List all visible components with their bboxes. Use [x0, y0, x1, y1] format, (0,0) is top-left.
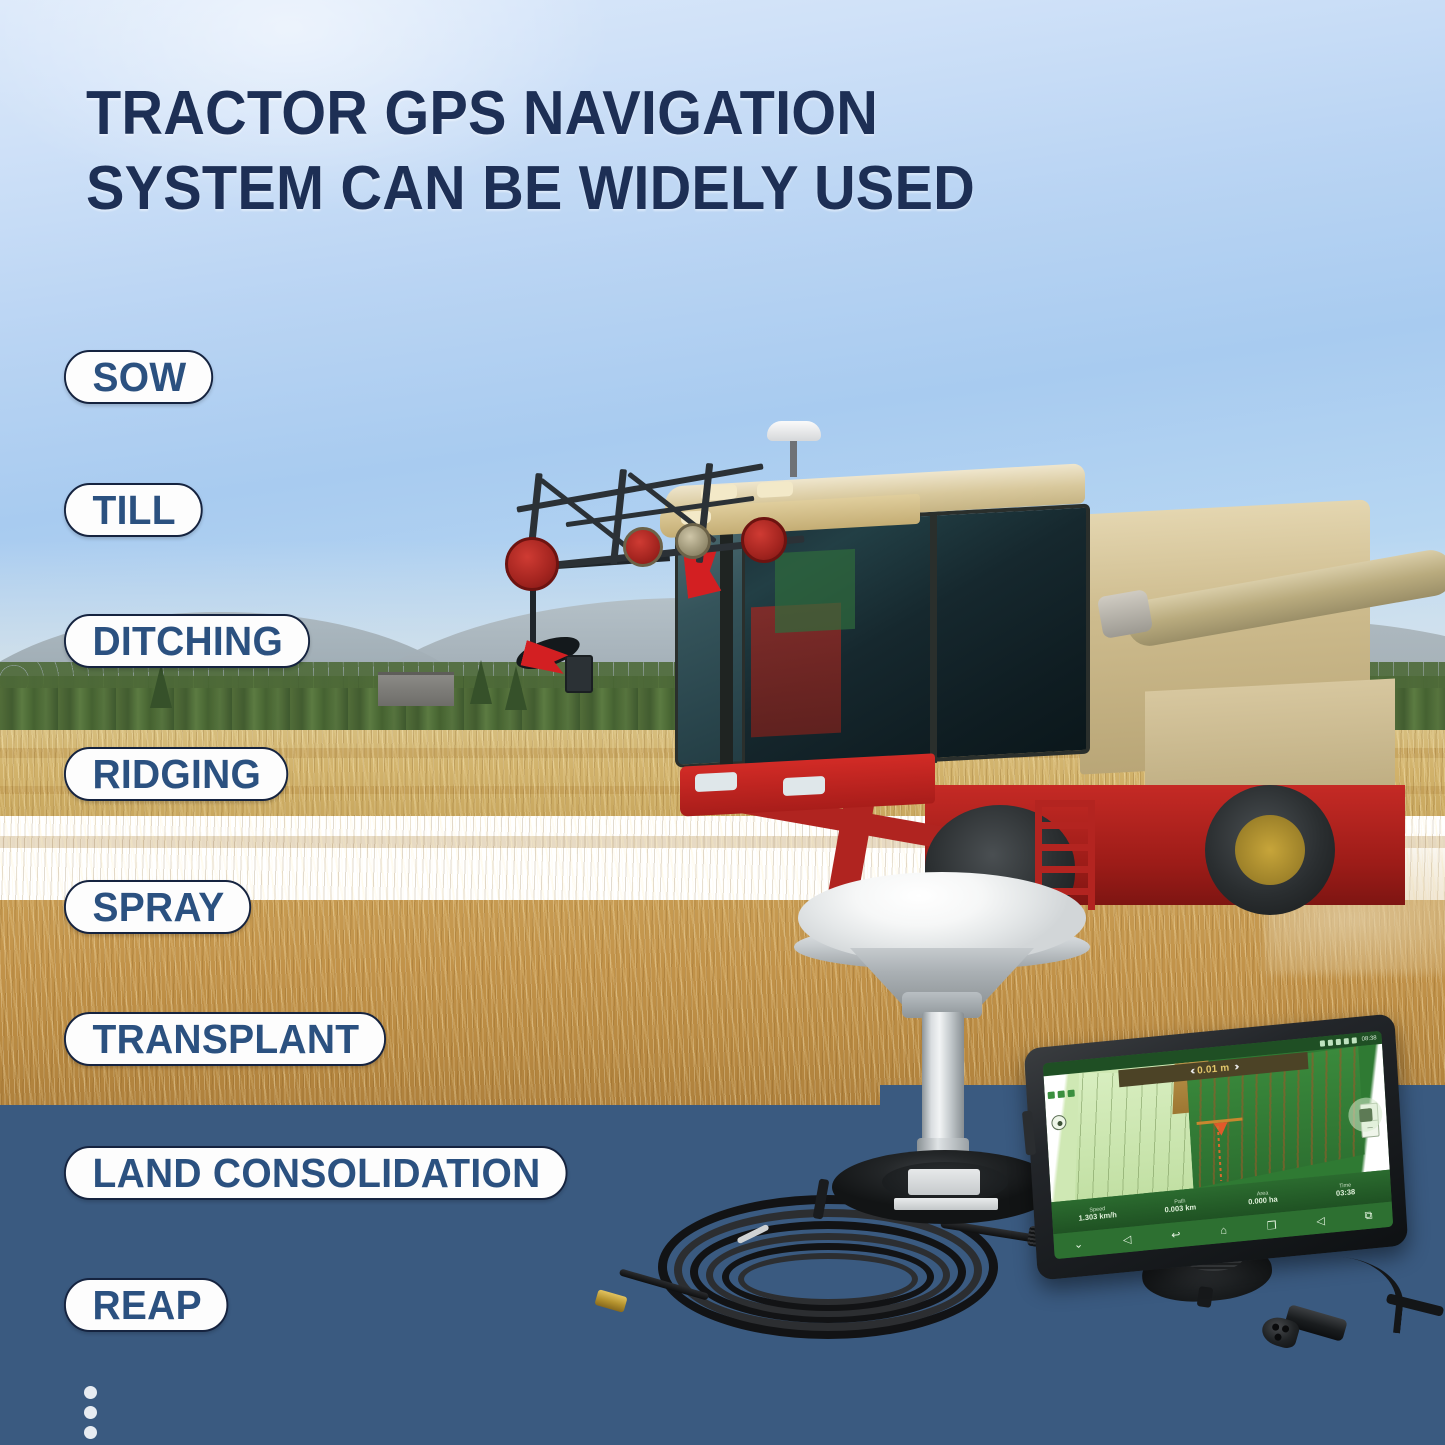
stat-time: Time 03:38	[1304, 1179, 1388, 1202]
layers-icon[interactable]	[1058, 1090, 1065, 1098]
recenter-location-icon[interactable]	[1051, 1114, 1067, 1130]
base-logo-plate	[908, 1169, 980, 1195]
conifer-tree	[470, 660, 492, 704]
base-model-plate	[894, 1198, 998, 1210]
ellipsis-dot	[84, 1386, 97, 1399]
application-pill-spray[interactable]: SPRAY	[64, 880, 251, 934]
grid-icon	[1358, 1108, 1372, 1122]
application-pill-transplant[interactable]: TRANSPLANT	[64, 1012, 386, 1066]
connector-pin	[1274, 1333, 1283, 1342]
application-pill-land-consolidation[interactable]: LAND CONSOLIDATION	[64, 1146, 567, 1200]
gps-signal-icon	[1320, 1040, 1325, 1046]
vehicle-position-marker	[1213, 1122, 1228, 1136]
status-clock: 08:38	[1362, 1035, 1377, 1042]
ellipsis-dot	[84, 1426, 97, 1439]
settings-icon[interactable]	[1048, 1091, 1055, 1099]
conifer-tree	[150, 664, 172, 708]
right-chevrons-icon: ›››	[1234, 1062, 1237, 1073]
reel-pulley	[675, 523, 711, 559]
ellipsis-dot	[84, 1406, 97, 1419]
battery-icon	[1352, 1037, 1357, 1043]
combine-harvester	[505, 455, 1445, 925]
product-marketing-poster: TRACTOR GPS NAVIGATION SYSTEM CAN BE WID…	[0, 0, 1445, 1445]
application-pill-till[interactable]: TILL	[64, 483, 202, 537]
application-pill-ditching[interactable]: DITCHING	[64, 614, 310, 668]
page-title-line-2: SYSTEM CAN BE WIDELY USED	[86, 157, 1072, 220]
satellite-icon	[1328, 1039, 1333, 1045]
power-cable	[1252, 1258, 1402, 1348]
page-title: TRACTOR GPS NAVIGATION SYSTEM CAN BE WID…	[86, 82, 1072, 220]
stat-area: Area 0.000 ha	[1221, 1187, 1305, 1210]
antenna-stem	[922, 1012, 964, 1144]
stat-path: Path 0.003 km	[1138, 1194, 1222, 1217]
screenshot-icon[interactable]: ⧉	[1364, 1210, 1373, 1224]
side-mirror	[565, 655, 593, 693]
map-toolbar[interactable]	[1048, 1090, 1075, 1100]
display-mount-stub	[1197, 1286, 1214, 1308]
application-pill-ridging[interactable]: RIDGING	[64, 747, 288, 801]
harvester-body-lower	[1145, 678, 1395, 801]
volume-mute-icon[interactable]: ◁	[1316, 1214, 1325, 1228]
wifi-icon	[1344, 1037, 1349, 1043]
volume-up-icon[interactable]: ◁	[1123, 1233, 1132, 1247]
collapse-icon[interactable]: ⌄	[1074, 1237, 1084, 1251]
cab-mullion	[930, 515, 937, 763]
antenna-mast	[790, 437, 797, 477]
vertical-ellipsis-icon[interactable]	[84, 1386, 97, 1439]
home-icon[interactable]: ⌂	[1220, 1224, 1227, 1237]
connector-pin	[1271, 1323, 1280, 1332]
reel-pulley	[623, 527, 663, 567]
list-icon[interactable]	[1067, 1090, 1074, 1098]
cab-interior-panel	[775, 549, 855, 633]
back-icon[interactable]: ↩	[1171, 1228, 1181, 1242]
recents-icon[interactable]: ❐	[1266, 1219, 1277, 1233]
page-title-line-1: TRACTOR GPS NAVIGATION	[86, 82, 1072, 145]
farm-building	[378, 672, 454, 706]
connector-pin	[1281, 1325, 1290, 1334]
rear-wheel-rim	[1235, 815, 1305, 885]
bluetooth-icon	[1336, 1038, 1341, 1044]
application-pill-sow[interactable]: SOW	[64, 350, 213, 404]
auger-cap	[1097, 589, 1154, 639]
display-screen[interactable]: 08:38 + −	[1043, 1031, 1393, 1259]
reel-pulley	[505, 537, 559, 591]
stat-speed: Speed 1.303 km/h	[1056, 1202, 1140, 1225]
cable-loop	[738, 1253, 918, 1305]
headlamp	[695, 772, 737, 792]
roof-lamp	[757, 481, 793, 498]
left-chevrons-icon: ‹‹‹	[1190, 1066, 1193, 1077]
roof-gnss-antenna	[767, 421, 821, 441]
reel-pulley	[741, 517, 787, 563]
cross-track-distance: 0.01 m	[1197, 1063, 1230, 1077]
application-pill-reap[interactable]: REAP	[64, 1278, 228, 1332]
headlamp	[783, 776, 825, 796]
